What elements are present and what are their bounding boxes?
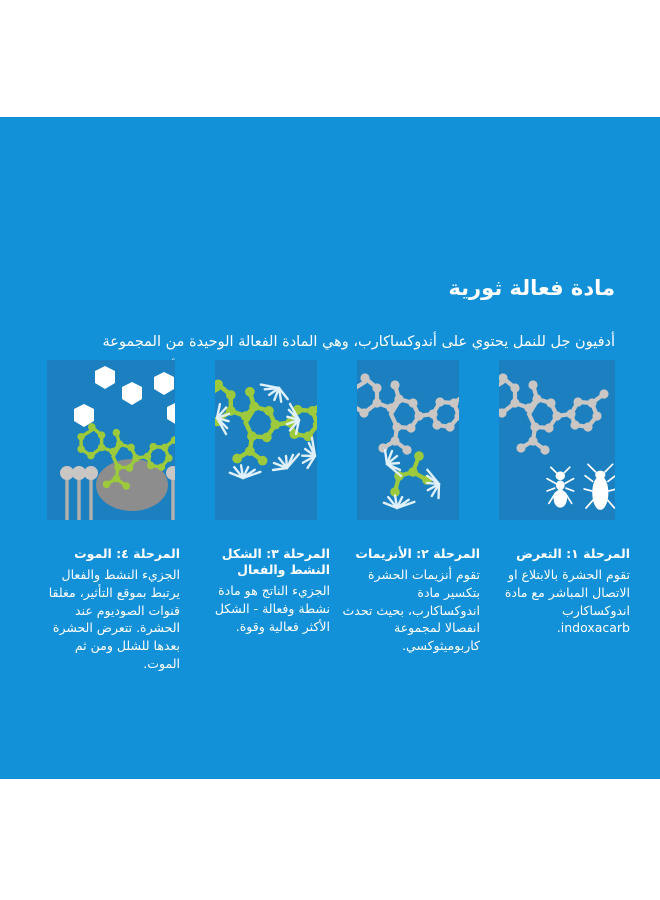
stage-3-body: الجزيء الناتج هو مادة نشطة وفعالة - الشك… bbox=[192, 582, 330, 635]
mechanism-diagram bbox=[47, 360, 615, 520]
chevron-divider-1 bbox=[175, 360, 215, 520]
hexagon-icon bbox=[74, 366, 187, 427]
stage-2-title: المرحلة ٢: الأنزيمات bbox=[342, 546, 480, 562]
panel-enzymes-art bbox=[347, 373, 470, 515]
stage-4-body: الجزيء النشط والفعال يرتبط بموقع التأثير… bbox=[42, 566, 180, 673]
page-root: مادة فعالة ثورية أدفيون جل للنمل يحتوي ع… bbox=[0, 0, 660, 900]
stage-1-title: المرحلة ١: التعرض bbox=[492, 546, 630, 562]
carbomethoxy-fragment bbox=[390, 451, 432, 497]
ant-icon bbox=[547, 467, 574, 507]
stage-block-4: المرحلة ٤: الموت الجزيء النشط والفعال ير… bbox=[42, 546, 180, 673]
panel-exposure-art bbox=[485, 373, 615, 510]
stage-1-body: تقوم الحشرة بالابتلاع او الاتصال المباشر… bbox=[492, 566, 630, 637]
stage-4-title: المرحلة ٤: الموت bbox=[42, 546, 180, 562]
chevron-divider-2 bbox=[317, 360, 357, 520]
chevron-divider-3 bbox=[459, 360, 499, 520]
stage-block-1: المرحلة ١: التعرض تقوم الحشرة بالابتلاع … bbox=[492, 546, 630, 637]
stage-block-2: المرحلة ٢: الأنزيمات تقوم أنزيمات الحشرة… bbox=[342, 546, 480, 655]
panel-active-form-art bbox=[199, 377, 330, 486]
stage-block-3: المرحلة ٣: الشكل النشط والفعال الجزيء ال… bbox=[192, 546, 330, 635]
stage-captions: المرحلة ١: التعرض تقوم الحشرة بالابتلاع … bbox=[30, 546, 630, 676]
stage-2-body: تقوم أنزيمات الحشرة بتكسير مادة اندوكساك… bbox=[342, 566, 480, 655]
page-title: مادة فعالة ثورية bbox=[45, 275, 615, 302]
stage-3-title: المرحلة ٣: الشكل النشط والفعال bbox=[192, 546, 330, 578]
roach-icon bbox=[584, 464, 615, 510]
